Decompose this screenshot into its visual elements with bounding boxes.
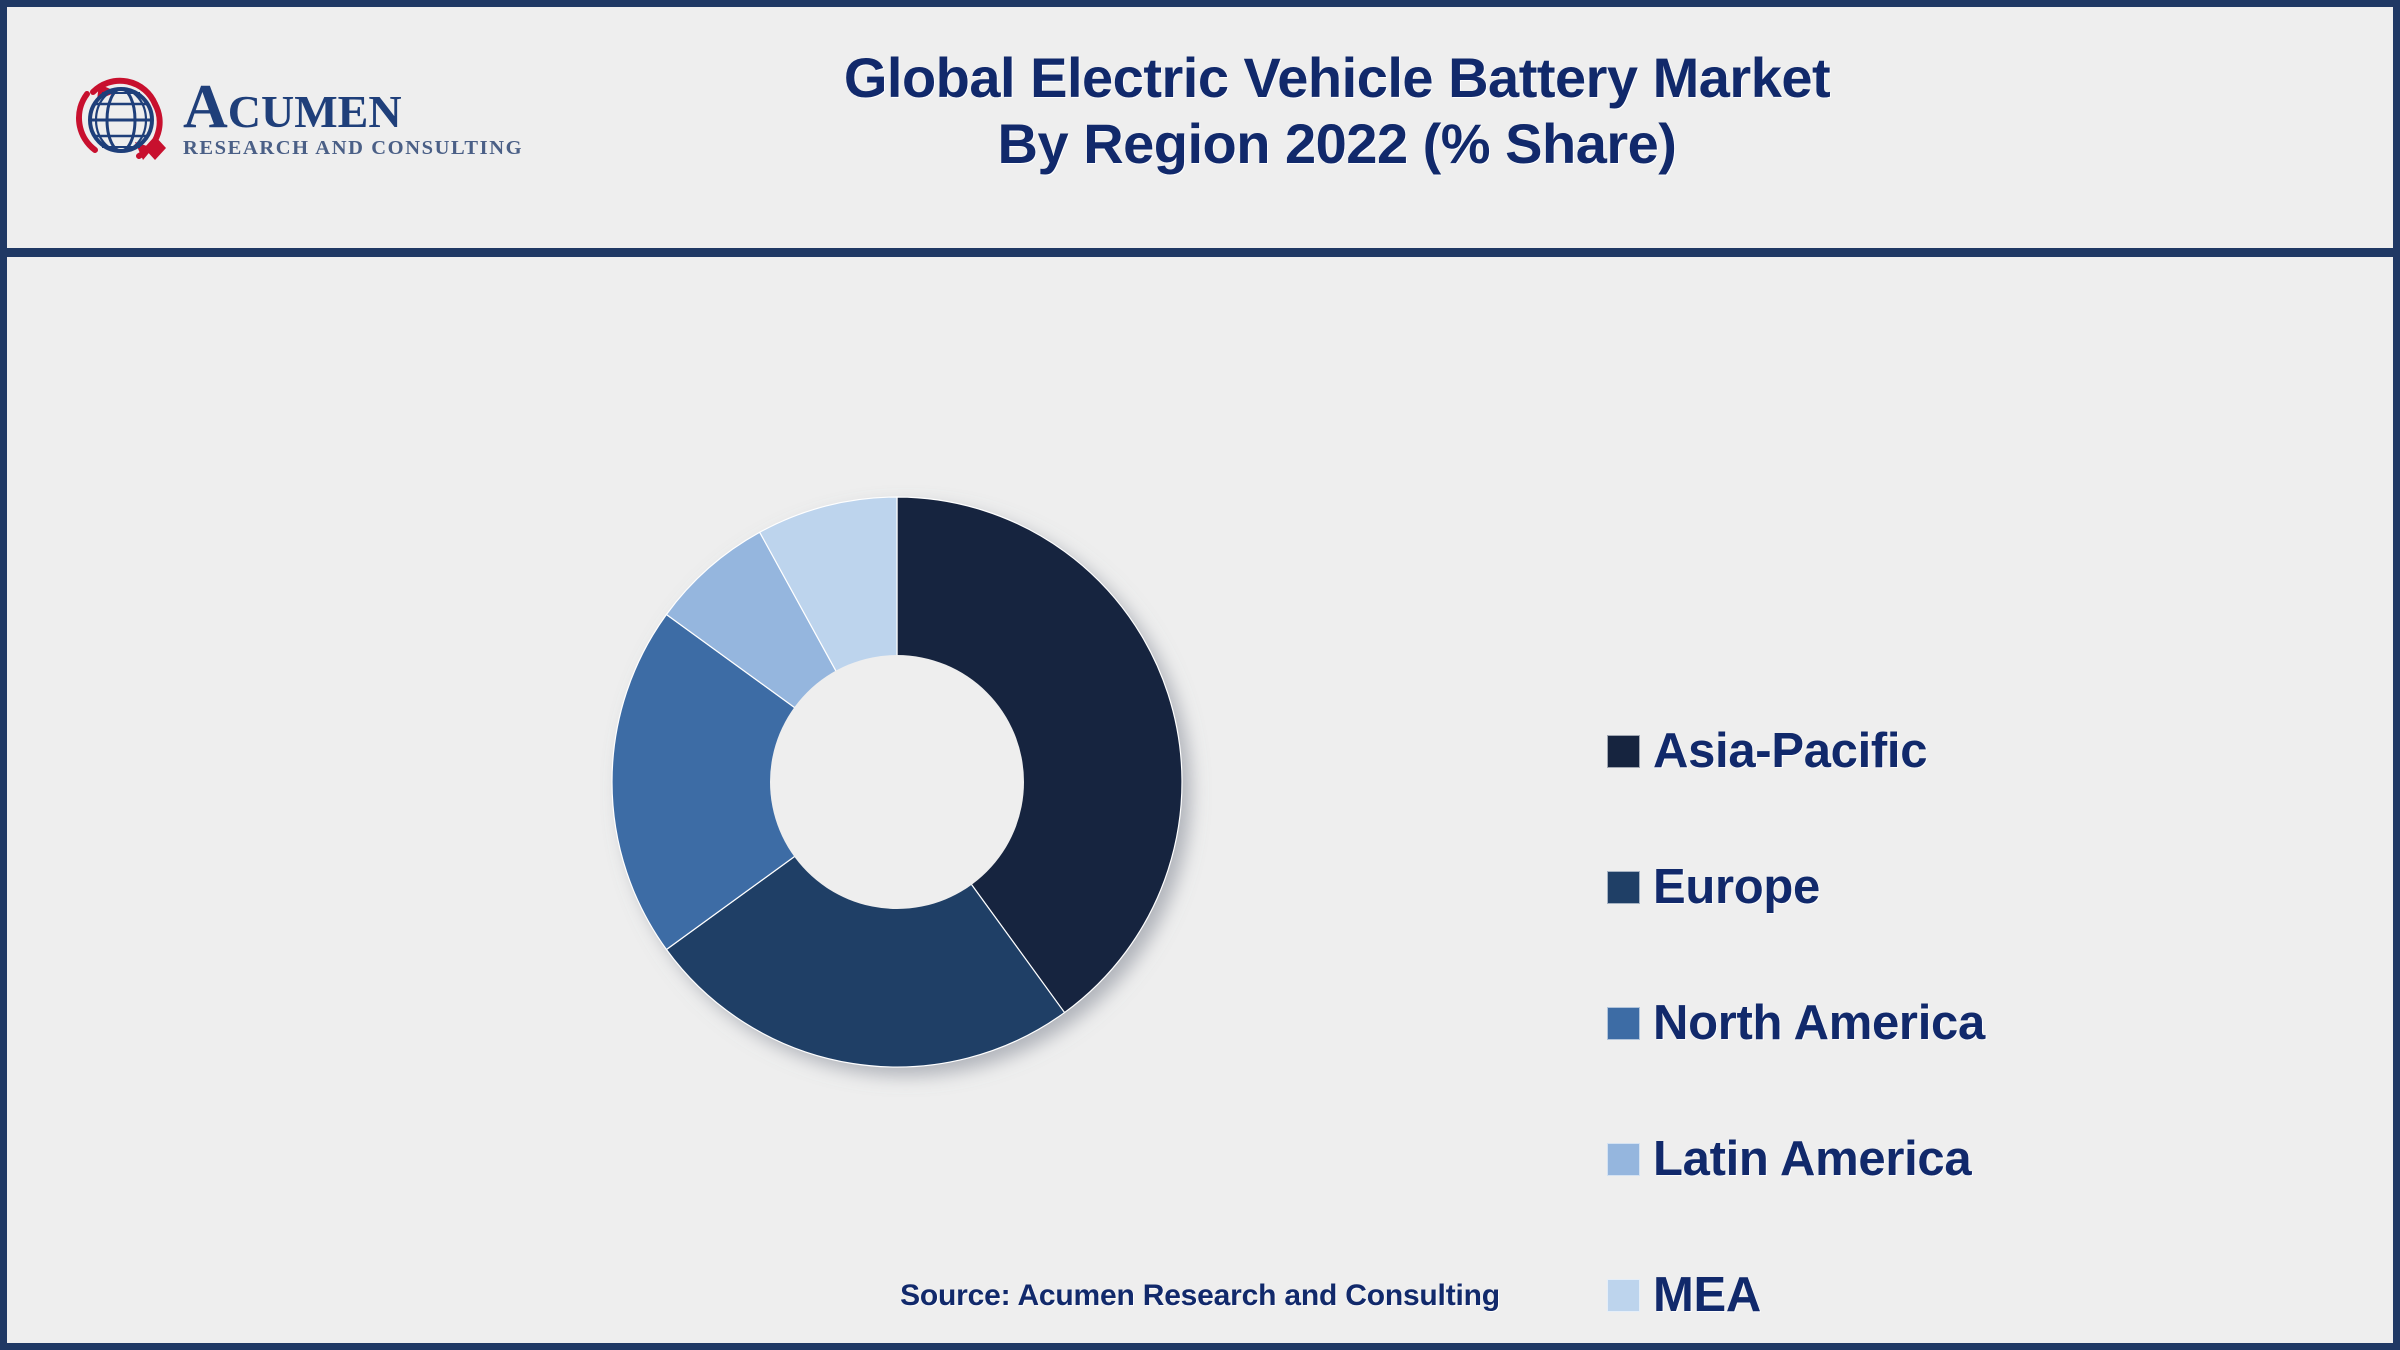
legend-item[interactable]: Latin America	[1607, 1115, 2347, 1203]
legend-swatch-icon	[1607, 735, 1640, 768]
brand-name-cap: A	[183, 73, 228, 141]
chart-area: Asia-PacificEuropeNorth AmericaLatin Ame…	[7, 257, 2393, 1347]
legend-label: North America	[1653, 995, 1985, 1051]
legend-item[interactable]: Europe	[1607, 843, 2347, 931]
legend-item[interactable]: Asia-Pacific	[1607, 707, 2347, 795]
chart-legend: Asia-PacificEuropeNorth AmericaLatin Ame…	[1607, 707, 2347, 1339]
page-title: Global Electric Vehicle Battery Market B…	[547, 45, 2127, 177]
donut-chart-svg	[567, 452, 1227, 1112]
legend-swatch-icon	[1607, 1007, 1640, 1040]
brand-logo: ACUMEN RESEARCH AND CONSULTING	[69, 55, 509, 180]
brand-tagline: RESEARCH AND CONSULTING	[183, 137, 523, 160]
brand-name: ACUMEN	[183, 79, 523, 136]
brand-name-rest: CUMEN	[228, 86, 402, 137]
globe-icon	[69, 64, 177, 172]
legend-label: Asia-Pacific	[1653, 723, 1927, 779]
infographic-poster: ACUMEN RESEARCH AND CONSULTING Global El…	[0, 0, 2400, 1350]
source-note: Source: Acumen Research and Consulting	[7, 1279, 2393, 1313]
legend-item[interactable]: North America	[1607, 979, 2347, 1067]
legend-label: Europe	[1653, 859, 1820, 915]
legend-swatch-icon	[1607, 871, 1640, 904]
donut-hole	[770, 655, 1024, 909]
brand-wordmark: ACUMEN RESEARCH AND CONSULTING	[183, 75, 523, 160]
legend-label: Latin America	[1653, 1131, 1971, 1187]
title-line-2: By Region 2022 (% Share)	[547, 111, 2127, 177]
title-line-1: Global Electric Vehicle Battery Market	[547, 45, 2127, 111]
legend-swatch-icon	[1607, 1143, 1640, 1176]
donut-chart	[567, 452, 1227, 1112]
header-divider	[7, 248, 2393, 257]
